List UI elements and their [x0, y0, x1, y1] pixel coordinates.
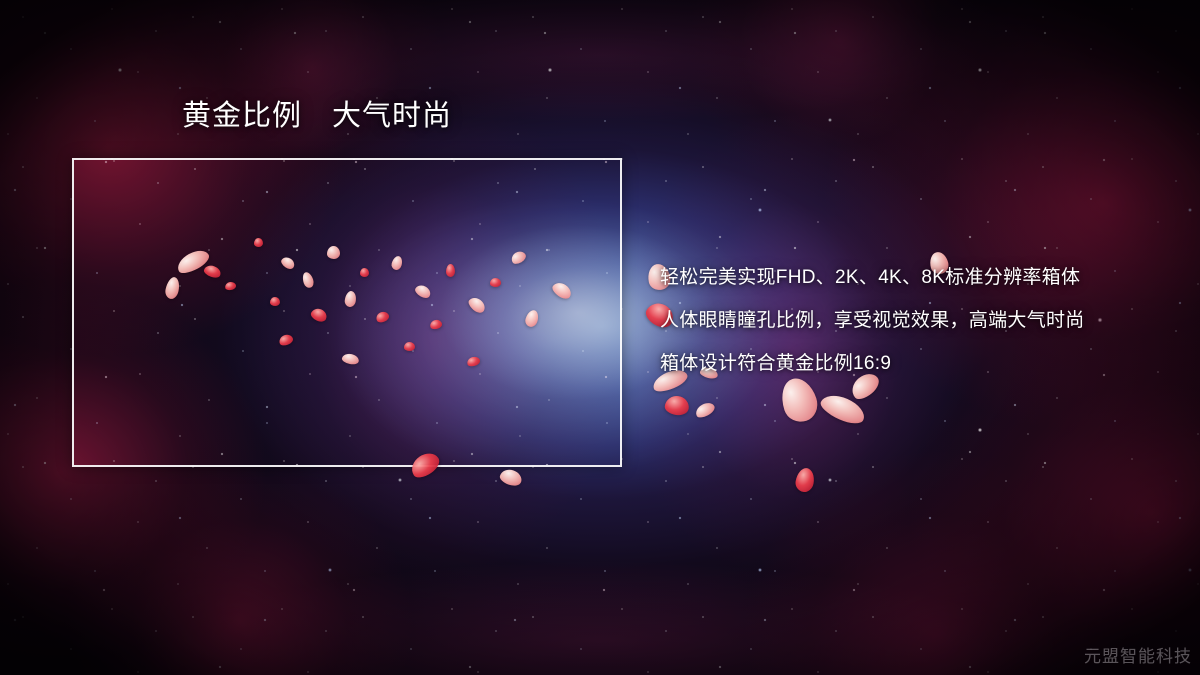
petal — [404, 342, 415, 351]
preview-core-glow — [74, 160, 620, 465]
petal — [254, 238, 263, 247]
petal — [270, 297, 280, 306]
petal — [498, 467, 524, 488]
presentation-slide: 黄金比例 大气时尚 轻松完美实现FHD、2K、4K、8K标准分辨率箱体 人体眼睛… — [0, 0, 1200, 675]
preview-red-left-layer — [74, 160, 620, 465]
petal — [490, 278, 501, 287]
preview-image-inner — [74, 160, 620, 465]
preview-image-frame — [72, 158, 622, 467]
preview-base-layer — [74, 160, 620, 465]
petal — [360, 268, 369, 277]
petal — [664, 394, 690, 416]
preview-starfield-small — [74, 160, 620, 465]
petal — [327, 246, 340, 259]
preview-red-right-layer — [74, 160, 620, 465]
preview-starfield-medium — [74, 160, 620, 465]
copy-line-3: 箱体设计符合黄金比例16:9 — [660, 342, 1180, 385]
page-title: 黄金比例 大气时尚 — [182, 101, 452, 133]
copy-line-2: 人体眼睛瞳孔比例，享受视觉效果，高端大气时尚 — [660, 299, 1180, 342]
body-copy-block: 轻松完美实现FHD、2K、4K、8K标准分辨率箱体 人体眼睛瞳孔比例，享受视觉效… — [660, 256, 1180, 385]
preview-nebula-art — [74, 160, 620, 465]
petal — [693, 400, 716, 420]
preview-magenta-layer — [74, 160, 620, 465]
petal — [446, 264, 455, 277]
company-watermark: 元盟智能科技 — [1084, 642, 1192, 667]
copy-line-1: 轻松完美实现FHD、2K、4K、8K标准分辨率箱体 — [660, 256, 1180, 299]
petal — [794, 467, 816, 494]
